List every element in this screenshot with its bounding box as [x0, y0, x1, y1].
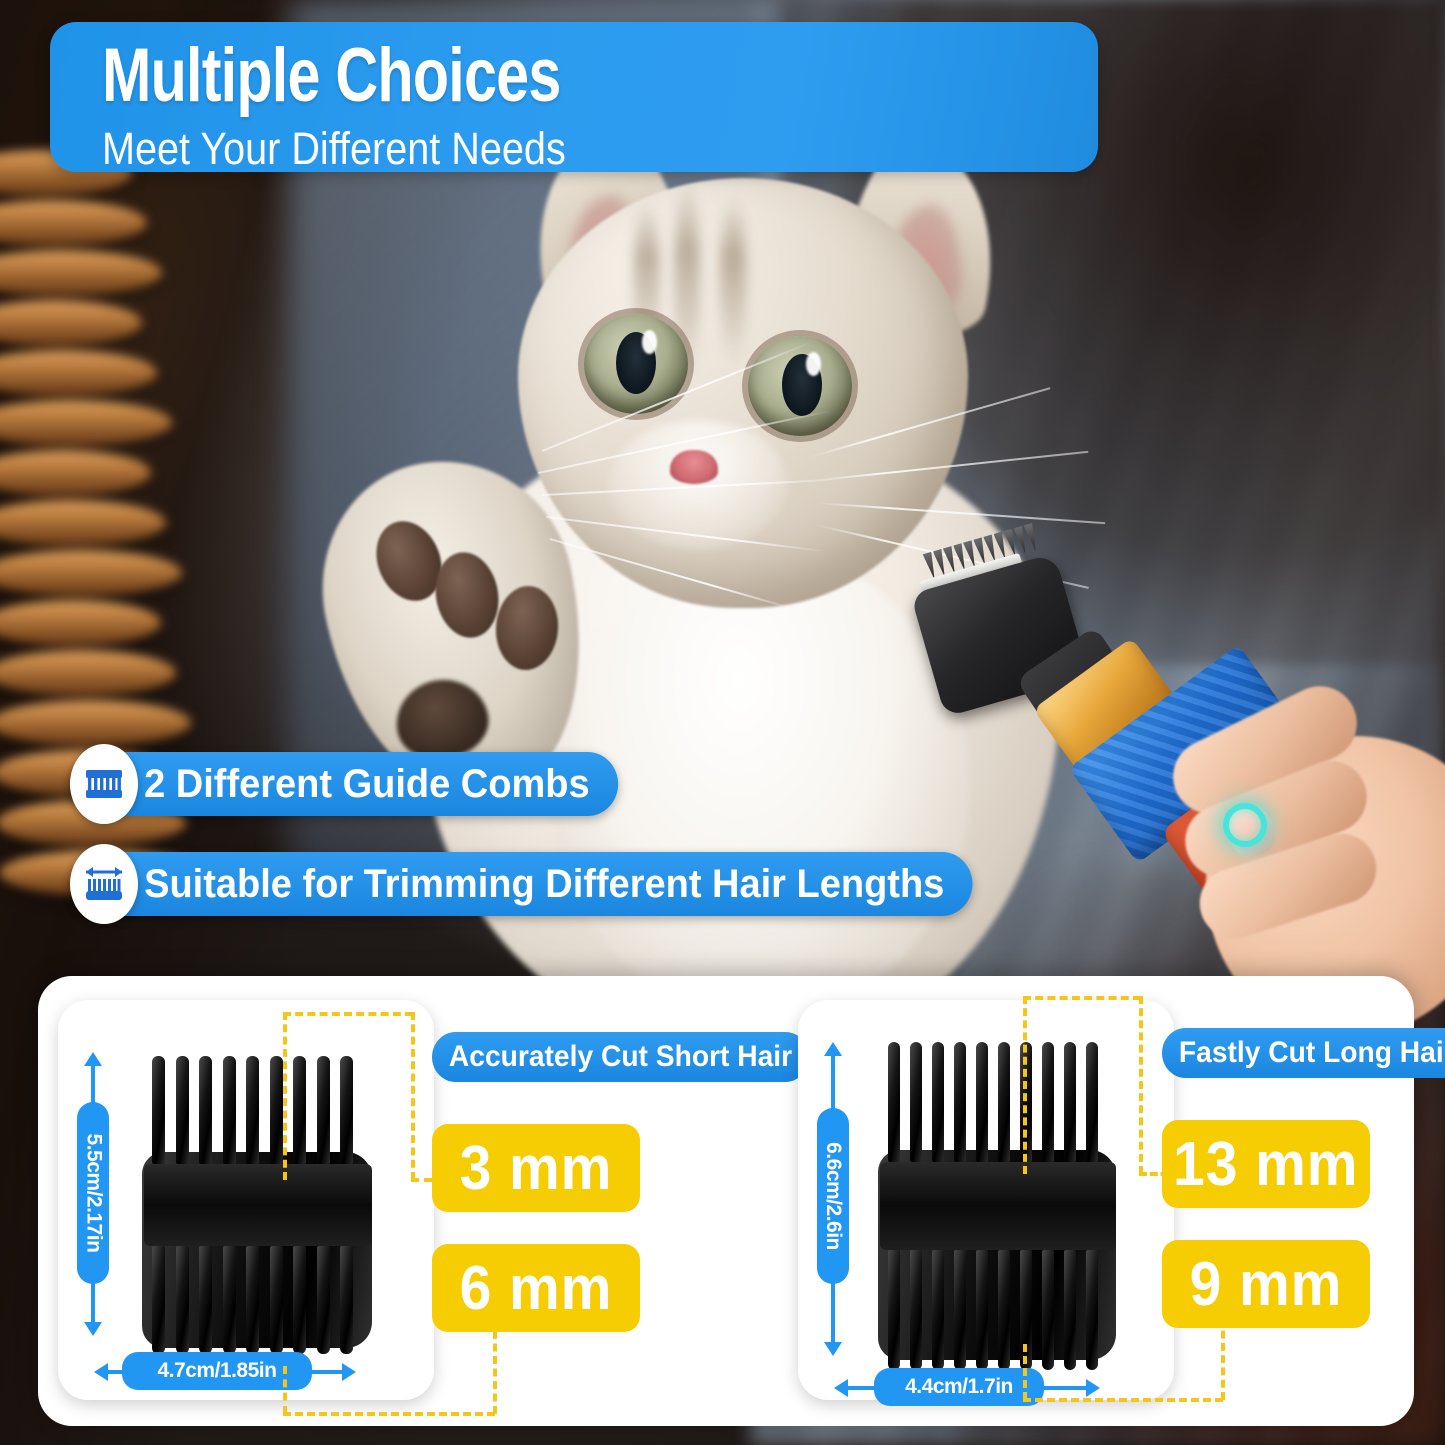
basket-coil — [0, 350, 157, 396]
comb-tooth — [954, 1250, 966, 1370]
callout-dash-horizontal — [283, 1412, 495, 1416]
comb-tooth — [223, 1056, 236, 1164]
comb-tooth — [270, 1246, 283, 1354]
comb-tooth — [223, 1246, 236, 1354]
comb-spine — [880, 1162, 1116, 1250]
comb-tooth — [910, 1250, 922, 1370]
comb-tooth — [317, 1056, 330, 1164]
comb-tooth — [1042, 1042, 1054, 1162]
comb-tooth — [976, 1250, 988, 1370]
callout-dash-vertical — [1023, 996, 1027, 1174]
callout-dash-vertical — [283, 1366, 287, 1414]
forehead-stripe — [720, 196, 746, 366]
comb-height-label: 5.5cm/2.17in — [77, 1102, 109, 1284]
comb-tooth — [199, 1246, 212, 1354]
kitten-eye-glint-left — [642, 330, 657, 354]
basket-coil — [0, 500, 166, 546]
size-badge-9mm: 9 mm — [1162, 1240, 1370, 1328]
comb-tooth — [246, 1246, 259, 1354]
comb-tooth — [1042, 1250, 1054, 1370]
comb-width-label: 4.4cm/1.7in — [874, 1368, 1044, 1406]
header-banner: Multiple Choices Meet Your Different Nee… — [50, 22, 1098, 172]
width-arrow-left — [94, 1363, 108, 1381]
comb-tooth — [176, 1246, 189, 1354]
height-arrow-up — [84, 1052, 102, 1066]
callout-dash-vertical — [1139, 996, 1143, 1174]
basket-coil — [0, 700, 191, 746]
comb-specs-card: 5.5cm/2.17in 4.7cm/1.85in Accurately Cut… — [38, 976, 1414, 1426]
comb-height-label: 6.6cm/2.6in — [817, 1108, 849, 1284]
comb-title-long: Fastly Cut Long Hair — [1162, 1028, 1445, 1078]
comb-illustration-long — [870, 1042, 1100, 1360]
height-arrow-up — [824, 1042, 842, 1056]
feature-row-guide-combs: 2 Different Guide Combs — [70, 752, 647, 816]
comb-tooth — [954, 1042, 966, 1162]
size-badge-13mm: 13 mm — [1162, 1120, 1370, 1208]
comb-tooth — [317, 1246, 330, 1354]
page-title: Multiple Choices — [102, 34, 879, 118]
comb-tooth — [1086, 1042, 1098, 1162]
comb-tooth — [340, 1056, 353, 1164]
comb-tooth — [246, 1056, 259, 1164]
comb-tooth — [199, 1056, 212, 1164]
comb-width-icon — [70, 844, 138, 924]
comb-spine — [144, 1164, 372, 1246]
comb-tooth — [932, 1042, 944, 1162]
height-arrow-down — [84, 1322, 102, 1336]
comb-tooth — [888, 1250, 900, 1370]
comb-tooth — [293, 1056, 306, 1164]
clipper-blade-icon — [70, 744, 138, 824]
callout-dash-horizontal — [283, 1012, 413, 1016]
basket-coil — [0, 450, 151, 496]
comb-tooth — [293, 1246, 306, 1354]
comb-title-short: Accurately Cut Short Hair — [432, 1032, 809, 1082]
comb-tooth — [1086, 1250, 1098, 1370]
basket-coil — [0, 600, 161, 646]
comb-panel-long-hair: 6.6cm/2.6in 4.4cm/1.7in — [798, 1000, 1174, 1400]
width-arrow-right — [1086, 1379, 1100, 1397]
width-arrow-left — [834, 1379, 848, 1397]
pet-clipper — [905, 545, 1445, 995]
comb-panel-short-hair: 5.5cm/2.17in 4.7cm/1.85in — [58, 1000, 434, 1400]
callout-dash-vertical — [411, 1012, 415, 1180]
feature-row-hair-lengths: Suitable for Trimming Different Hair Len… — [70, 852, 1020, 916]
comb-tooth — [152, 1246, 165, 1354]
comb-tooth — [270, 1056, 283, 1164]
infographic-page: Multiple Choices Meet Your Different Nee… — [0, 0, 1445, 1445]
comb-tooth — [888, 1042, 900, 1162]
feature-label-hair-lengths: Suitable for Trimming Different Hair Len… — [70, 852, 973, 916]
callout-dash-horizontal — [1023, 996, 1141, 1000]
width-arrow-right — [342, 1363, 356, 1381]
size-badge-6mm: 6 mm — [432, 1244, 640, 1332]
comb-tooth — [340, 1246, 353, 1354]
comb-tooth — [1064, 1042, 1076, 1162]
comb-tooth — [998, 1042, 1010, 1162]
callout-dash-vertical — [1023, 1344, 1027, 1400]
comb-tooth — [176, 1056, 189, 1164]
comb-tooth — [1064, 1250, 1076, 1370]
comb-tooth — [998, 1250, 1010, 1370]
kitten-eye-glint-right — [806, 352, 821, 376]
comb-tooth — [910, 1042, 922, 1162]
basket-coil — [0, 650, 176, 696]
comb-tooth — [976, 1042, 988, 1162]
basket-coil — [0, 550, 182, 596]
basket-coil — [0, 200, 147, 246]
height-arrow-down — [824, 1342, 842, 1356]
callout-dash-vertical — [283, 1012, 287, 1180]
basket-coil — [0, 300, 142, 346]
comb-illustration-short — [134, 1056, 354, 1356]
page-subtitle: Meet Your Different Needs — [102, 124, 978, 174]
comb-tooth — [152, 1056, 165, 1164]
basket-coil — [0, 400, 172, 446]
size-badge-3mm: 3 mm — [432, 1124, 640, 1212]
basket-coil — [0, 250, 162, 296]
kitten-nose — [670, 450, 718, 484]
feature-label-guide-combs: 2 Different Guide Combs — [70, 752, 618, 816]
callout-dash-horizontal — [1023, 1398, 1223, 1402]
comb-tooth — [932, 1250, 944, 1370]
